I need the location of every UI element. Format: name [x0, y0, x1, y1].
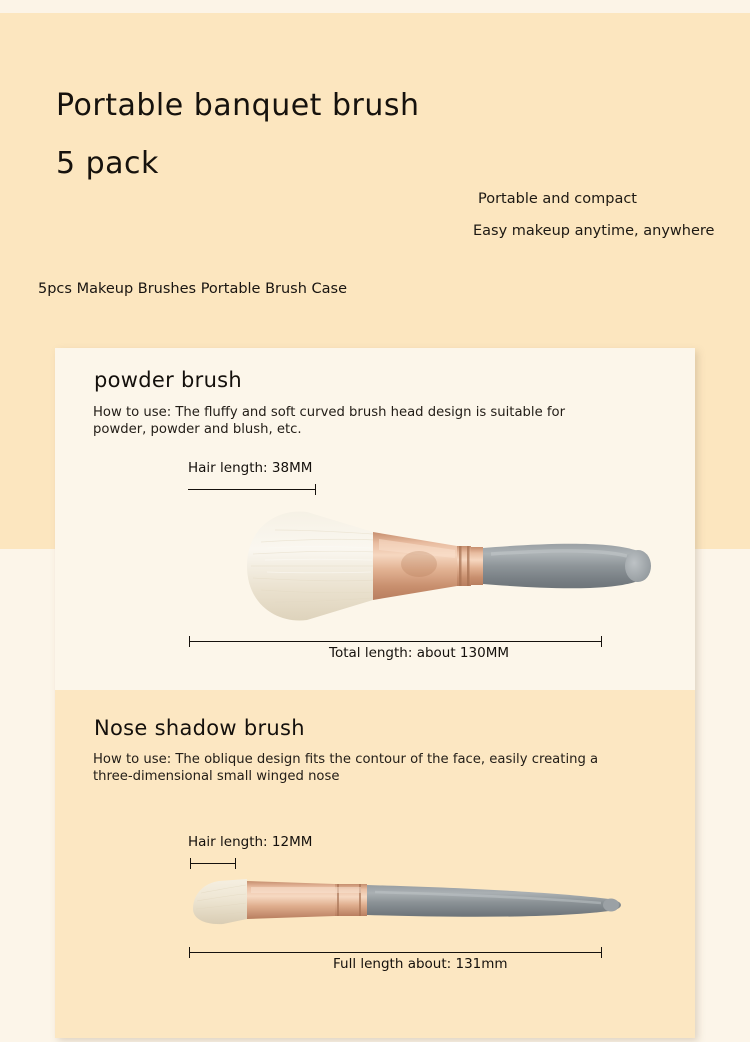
- ruler-tick-right: [235, 858, 236, 869]
- powder-total-length-label: Total length: about 130MM: [329, 645, 509, 661]
- powder-ferrule-ring-2: [471, 547, 483, 585]
- ruler-bar: [189, 952, 602, 953]
- background-top-strip: [0, 0, 750, 13]
- page-title-line-1: Portable banquet brush: [56, 88, 420, 123]
- nose-brush-title: Nose shadow brush: [94, 716, 305, 740]
- powder-hair-length-label: Hair length: 38MM: [188, 460, 312, 476]
- ruler-tick-right: [601, 947, 602, 958]
- nose-shadow-brush-image: [185, 875, 669, 935]
- powder-groove-2: [467, 546, 470, 586]
- nose-ferrule-highlight: [251, 887, 361, 893]
- ruler-tick-right: [315, 484, 316, 495]
- section-nose-shadow-brush: Nose shadow brush How to use: The obliqu…: [55, 690, 695, 1038]
- product-detail-card: powder brush How to use: The fluffy and …: [55, 348, 695, 1038]
- ruler-bar: [189, 641, 602, 642]
- nose-brush-description: How to use: The oblique design fits the …: [93, 752, 613, 785]
- powder-ferrule-shade: [401, 551, 437, 577]
- powder-hair-length-ruler: [188, 484, 316, 494]
- ruler-tick-left: [189, 947, 190, 958]
- nose-total-length-label: Full length about: 131mm: [333, 956, 508, 972]
- nose-bristles: [193, 879, 247, 924]
- ruler-bar: [190, 863, 236, 864]
- nose-handle-tip: [603, 899, 619, 912]
- powder-groove-1: [459, 546, 462, 586]
- nose-hair-length-label: Hair length: 12MM: [188, 834, 312, 850]
- page-title-line-2: 5 pack: [56, 146, 159, 181]
- tagline-easy-makeup: Easy makeup anytime, anywhere: [473, 223, 714, 239]
- powder-brush-image: [183, 506, 667, 626]
- powder-handle-tip: [625, 550, 651, 582]
- ruler-tick-left: [190, 858, 191, 869]
- tagline-portable-compact: Portable and compact: [478, 191, 637, 207]
- ruler-bar: [188, 489, 316, 490]
- section-powder-brush: powder brush How to use: The fluffy and …: [55, 348, 695, 690]
- product-subcaption: 5pcs Makeup Brushes Portable Brush Case: [38, 281, 347, 297]
- nose-hair-length-ruler: [190, 858, 236, 868]
- ruler-tick-right: [601, 636, 602, 647]
- product-infographic-page: Portable banquet brush 5 pack Portable a…: [0, 0, 750, 1042]
- powder-brush-title: powder brush: [94, 368, 242, 392]
- powder-brush-description: How to use: The fluffy and soft curved b…: [93, 405, 613, 438]
- nose-ferrule: [247, 881, 335, 919]
- ruler-tick-left: [189, 636, 190, 647]
